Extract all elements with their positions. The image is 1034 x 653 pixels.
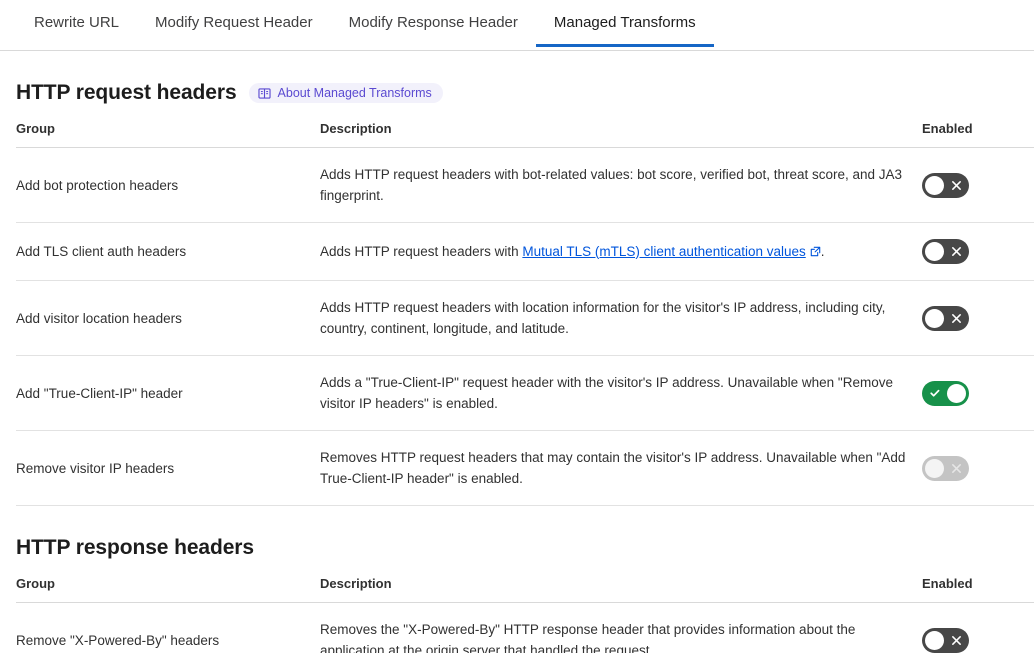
row-description: Removes HTTP request headers that may co… [320, 431, 922, 506]
link-label: Mutual TLS (mTLS) client authentication … [522, 244, 805, 259]
close-icon [944, 628, 969, 653]
column-header-group: Group [16, 121, 320, 148]
column-header-description: Description [320, 121, 922, 148]
column-header-enabled: Enabled [922, 576, 1034, 603]
tab-modify-request-header[interactable]: Modify Request Header [137, 0, 331, 47]
toggle-remove-visitor-ip-headers [922, 456, 969, 481]
toggle-add-true-client-ip-header[interactable] [922, 381, 969, 406]
section-http-request-headers: HTTP request headers About Managed Trans… [16, 51, 1018, 506]
tab-managed-transforms[interactable]: Managed Transforms [536, 0, 714, 47]
row-group-label: Remove visitor IP headers [16, 431, 320, 506]
tab-rewrite-url[interactable]: Rewrite URL [16, 0, 137, 47]
row-description: Removes the "X-Powered-By" HTTP response… [320, 603, 922, 653]
row-enabled-cell [922, 431, 1034, 506]
description-text-before: Adds HTTP request headers with [320, 244, 522, 259]
close-icon [944, 306, 969, 331]
row-enabled-cell [922, 356, 1034, 431]
request-section-header: HTTP request headers About Managed Trans… [16, 51, 1018, 121]
tab-bar: Rewrite URL Modify Request Header Modify… [0, 0, 1034, 51]
page-content: HTTP request headers About Managed Trans… [0, 51, 1034, 653]
section-http-response-headers: HTTP response headers Group Description … [16, 506, 1018, 653]
about-badge-label: About Managed Transforms [278, 86, 432, 100]
table-row: Remove "X-Powered-By" headers Removes th… [16, 603, 1034, 653]
row-group-label: Add bot protection headers [16, 148, 320, 223]
row-description: Adds HTTP request headers with bot-relat… [320, 148, 922, 223]
table-row: Add "True-Client-IP" header Adds a "True… [16, 356, 1034, 431]
response-section-header: HTTP response headers [16, 506, 1018, 576]
table-row: Add TLS client auth headers Adds HTTP re… [16, 223, 1034, 281]
toggle-add-tls-client-auth-headers[interactable] [922, 239, 969, 264]
table-row: Add bot protection headers Adds HTTP req… [16, 148, 1034, 223]
toggle-add-bot-protection-headers[interactable] [922, 173, 969, 198]
toggle-knob [925, 176, 944, 195]
request-headers-table: Group Description Enabled Add bot protec… [16, 121, 1034, 506]
row-group-label: Add TLS client auth headers [16, 223, 320, 281]
column-header-group: Group [16, 576, 320, 603]
toggle-knob [925, 242, 944, 261]
tab-modify-response-header[interactable]: Modify Response Header [331, 0, 536, 47]
toggle-knob [947, 384, 966, 403]
row-description: Adds HTTP request headers with location … [320, 281, 922, 356]
description-text-after: . [821, 244, 825, 259]
response-section-title: HTTP response headers [16, 536, 254, 560]
row-group-label: Add visitor location headers [16, 281, 320, 356]
row-enabled-cell [922, 281, 1034, 356]
row-group-label: Add "True-Client-IP" header [16, 356, 320, 431]
toggle-knob [925, 631, 944, 650]
about-managed-transforms-badge[interactable]: About Managed Transforms [249, 83, 443, 103]
row-enabled-cell [922, 603, 1034, 653]
column-header-enabled: Enabled [922, 121, 1034, 148]
toggle-knob [925, 309, 944, 328]
row-enabled-cell [922, 223, 1034, 281]
mtls-client-authentication-link[interactable]: Mutual TLS (mTLS) client authentication … [522, 244, 805, 259]
close-icon [944, 239, 969, 264]
row-description: Adds HTTP request headers with Mutual TL… [320, 223, 922, 281]
table-header-row: Group Description Enabled [16, 576, 1034, 603]
toggle-remove-x-powered-by-headers[interactable] [922, 628, 969, 653]
check-icon [922, 381, 947, 406]
table-row: Remove visitor IP headers Removes HTTP r… [16, 431, 1034, 506]
toggle-knob [925, 459, 944, 478]
close-icon [944, 173, 969, 198]
row-description: Adds a "True-Client-IP" request header w… [320, 356, 922, 431]
row-enabled-cell [922, 148, 1034, 223]
response-headers-table: Group Description Enabled Remove "X-Powe… [16, 576, 1034, 653]
table-header-row: Group Description Enabled [16, 121, 1034, 148]
toggle-add-visitor-location-headers[interactable] [922, 306, 969, 331]
page-title: HTTP request headers [16, 81, 237, 105]
table-row: Add visitor location headers Adds HTTP r… [16, 281, 1034, 356]
row-group-label: Remove "X-Powered-By" headers [16, 603, 320, 653]
external-link-icon[interactable] [810, 242, 821, 263]
column-header-description: Description [320, 576, 922, 603]
close-icon [944, 456, 969, 481]
book-icon [258, 87, 271, 100]
